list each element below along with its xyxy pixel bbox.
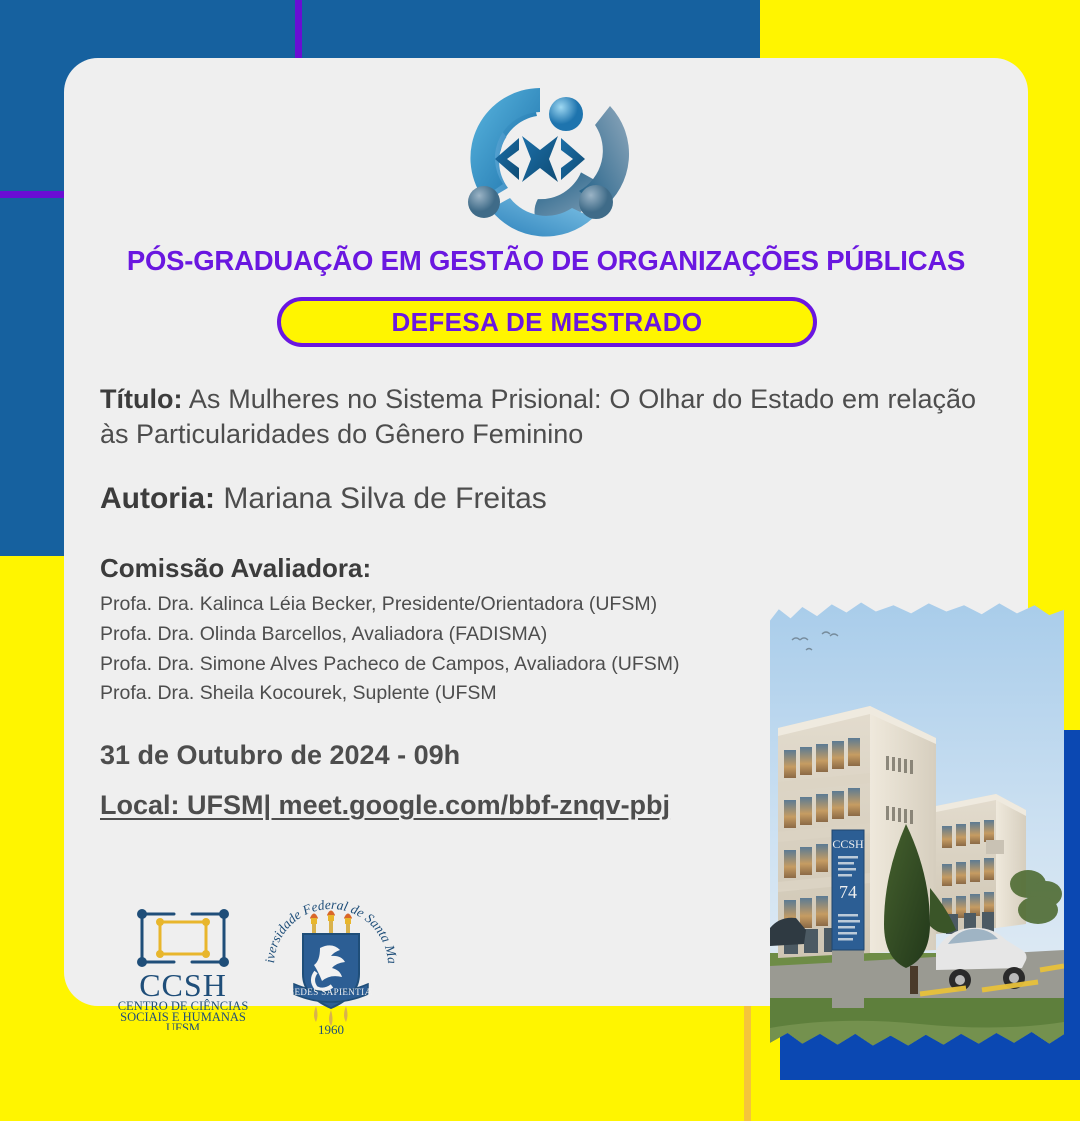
thesis-title-text: As Mulheres no Sistema Prisional: O Olha…: [100, 384, 976, 449]
program-title: PÓS-GRADUAÇÃO EM GESTÃO DE ORGANIZAÇÕES …: [64, 245, 1028, 277]
ufsm-logo: Universidade Federal de Santa Maria: [258, 888, 404, 1034]
background-blue-top-strip: [256, 0, 760, 58]
thesis-title-block: Título: As Mulheres no Sistema Prisional…: [100, 382, 976, 451]
svg-text:SEDES SAPIENTIÆ: SEDES SAPIENTIÆ: [289, 987, 373, 997]
committee-member: Profa. Dra. Simone Alves Pacheco de Camp…: [100, 650, 800, 680]
campus-building-photo: CCSH 74: [770, 598, 1064, 1050]
event-location-link[interactable]: Local: UFSM| meet.google.com/bbf-znqv-pb…: [100, 790, 670, 821]
svg-text:1960: 1960: [318, 1022, 344, 1034]
committee-heading: Comissão Avaliadora:: [100, 553, 371, 584]
svg-text:UFSM: UFSM: [166, 1021, 200, 1030]
author-label: Autoria:: [100, 482, 215, 515]
committee-member: Profa. Dra. Olinda Barcellos, Avaliadora…: [100, 620, 800, 650]
ccsh-logo: CCSH CENTRO DE CIÊNCIAS SOCIAIS E HUMANA…: [108, 900, 258, 1030]
author-block: Autoria: Mariana Silva de Freitas: [100, 482, 976, 516]
committee-member: Profa. Dra. Kalinca Léia Becker, Preside…: [100, 590, 800, 620]
purple-accent-line-left: [0, 191, 60, 198]
svg-text:CCSH: CCSH: [832, 837, 864, 851]
poster-canvas: PÓS-GRADUAÇÃO EM GESTÃO DE ORGANIZAÇÕES …: [0, 0, 1080, 1080]
svg-text:74: 74: [839, 882, 857, 902]
committee-list: Profa. Dra. Kalinca Léia Becker, Preside…: [100, 590, 800, 709]
event-datetime: 31 de Outubro de 2024 - 09h: [100, 740, 460, 771]
svg-text:CCSH: CCSH: [139, 967, 227, 1003]
program-emblem-icon: [449, 78, 631, 240]
author-name: Mariana Silva de Freitas: [215, 482, 547, 515]
committee-member: Profa. Dra. Sheila Kocourek, Suplente (U…: [100, 679, 800, 709]
defense-type-badge: DEFESA DE MESTRADO: [277, 297, 817, 347]
defense-type-badge-label: DEFESA DE MESTRADO: [391, 307, 702, 338]
thesis-title-label: Título:: [100, 384, 182, 414]
